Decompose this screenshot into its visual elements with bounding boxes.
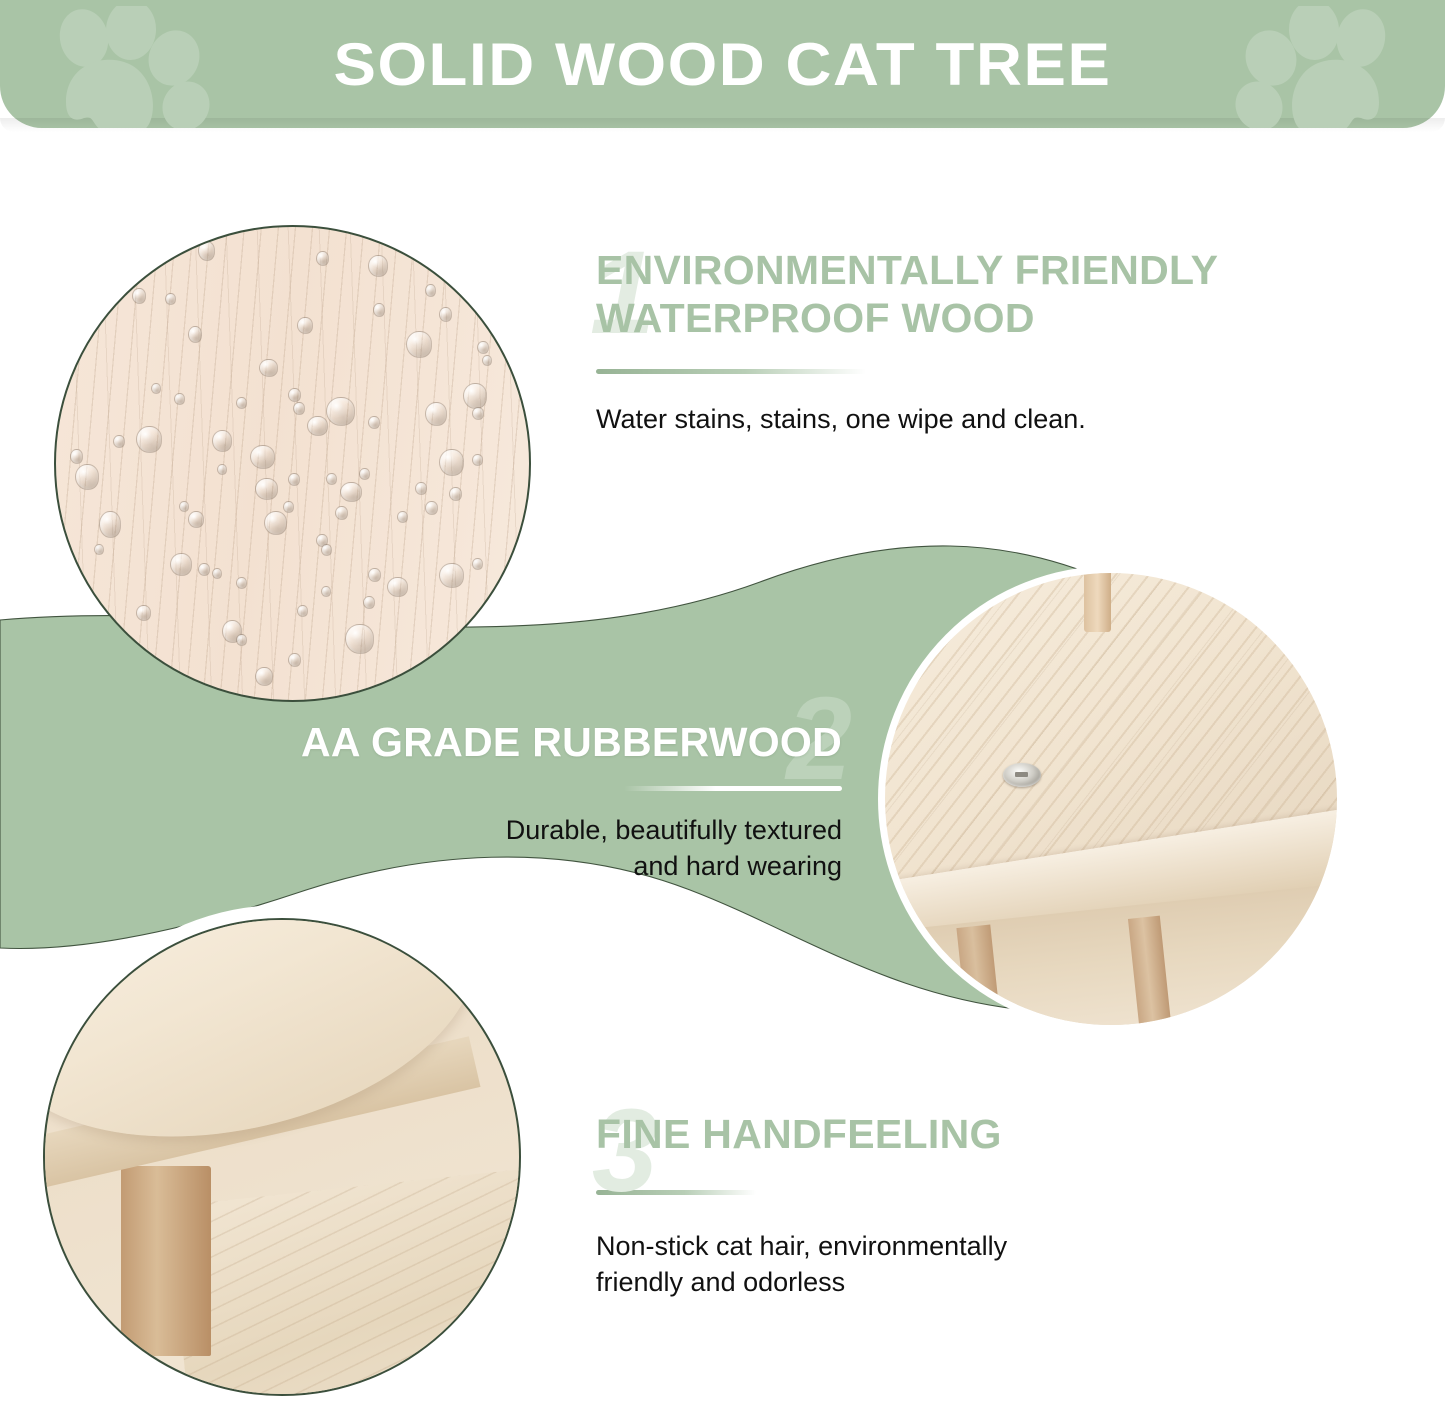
feature-body-line-1: Durable, beautifully textured bbox=[506, 815, 842, 845]
feature-heading: ENVIRONMENTALLY FRIENDLY WATERPROOF WOOD bbox=[596, 246, 1356, 343]
header-banner: SOLID WOOD CAT TREE bbox=[0, 0, 1445, 128]
wood-dowel bbox=[1084, 566, 1111, 632]
feature-heading-line-1: ENVIRONMENTALLY FRIENDLY bbox=[596, 247, 1218, 293]
feature-heading: AA GRADE RUBBERWOOD bbox=[240, 718, 842, 766]
feature-body: Durable, beautifully textured and hard w… bbox=[240, 813, 842, 884]
feature-block-1: 1 ENVIRONMENTALLY FRIENDLY WATERPROOF WO… bbox=[596, 246, 1356, 437]
support-post bbox=[121, 1166, 211, 1356]
feature-block-3: 3 FINE HANDFEELING Non-stick cat hair, e… bbox=[596, 1110, 1216, 1301]
feature-body-line-2: friendly and odorless bbox=[596, 1267, 845, 1297]
feature-block-2: 2 AA GRADE RUBBERWOOD Durable, beautiful… bbox=[240, 718, 842, 885]
page-title: SOLID WOOD CAT TREE bbox=[0, 0, 1445, 128]
feature-body: Water stains, stains, one wipe and clean… bbox=[596, 402, 1356, 438]
feature-body-line-1: Non-stick cat hair, environmentally bbox=[596, 1231, 1007, 1261]
wood-floor bbox=[167, 1165, 521, 1396]
screw-icon bbox=[1003, 763, 1041, 787]
product-photo-rubberwood bbox=[878, 566, 1344, 1032]
product-photo-handfeeling bbox=[43, 918, 521, 1396]
feature-body: Non-stick cat hair, environmentally frie… bbox=[596, 1229, 1216, 1300]
feature-body-line-2: and hard wearing bbox=[633, 851, 842, 881]
feature-divider bbox=[596, 369, 866, 374]
feature-heading: FINE HANDFEELING bbox=[596, 1110, 1216, 1158]
feature-heading-line-2: WATERPROOF WOOD bbox=[596, 295, 1035, 341]
product-photo-waterproof-wood bbox=[54, 225, 531, 702]
